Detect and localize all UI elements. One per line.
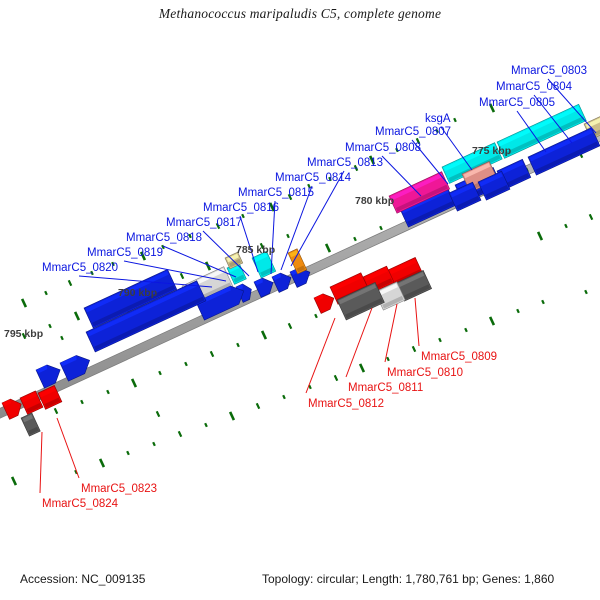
gene-label-mmarc5_0817[interactable]: MmarC5_0817	[166, 218, 242, 230]
rna-tick	[131, 378, 137, 387]
rna-tick	[48, 324, 52, 329]
rna-tick	[464, 328, 468, 333]
rna-tick	[537, 231, 543, 240]
rna-tick	[325, 243, 331, 252]
gene-label-mmarc5_0813[interactable]: MmarC5_0813	[307, 158, 383, 170]
rna-tick	[80, 400, 84, 405]
scale-tick-790: 790 kbp	[118, 288, 157, 299]
rna-tick	[261, 330, 267, 339]
leader-line	[40, 432, 42, 493]
rna-tick	[282, 395, 286, 400]
rna-tick	[564, 224, 568, 229]
gene-label-mmarc5_0804[interactable]: MmarC5_0804	[496, 82, 572, 94]
rna-tick	[106, 390, 110, 395]
rna-tick	[156, 411, 161, 417]
rna-tick	[60, 336, 64, 341]
gene-label-mmarc5_0812[interactable]: MmarC5_0812	[308, 399, 384, 411]
gene-label-mmarc5_0815[interactable]: MmarC5_0815	[238, 188, 314, 200]
rna-tick	[11, 476, 17, 485]
rna-tick	[353, 237, 357, 242]
rna-tick	[74, 311, 80, 320]
rna-tick	[438, 338, 442, 343]
rna-tick	[453, 118, 457, 123]
rna-tick	[99, 458, 105, 467]
rna-tick	[379, 226, 383, 231]
rna-tick	[314, 314, 318, 319]
gene-label-mmarc5_0818[interactable]: MmarC5_0818	[126, 233, 202, 245]
rna-tick	[21, 298, 27, 307]
rna-tick	[334, 375, 339, 381]
rna-tick	[180, 273, 185, 279]
gene-glyph[interactable]	[288, 249, 307, 274]
rna-tick	[516, 309, 520, 314]
gene-label-mmarc5_0823[interactable]: MmarC5_0823	[81, 484, 157, 496]
rna-tick	[589, 214, 594, 220]
rna-tick	[178, 431, 183, 437]
rna-tick	[359, 363, 365, 372]
gene-label-mmarc5_0824[interactable]: MmarC5_0824	[42, 499, 118, 511]
gene-label-mmarc5_0809[interactable]: MmarC5_0809	[421, 352, 497, 364]
scale-tick-775: 775 kbp	[472, 146, 511, 157]
rna-tick	[68, 280, 73, 286]
gene-label-mmarc5_0814[interactable]: MmarC5_0814	[275, 173, 351, 185]
gene-label-mmarc5_0810[interactable]: MmarC5_0810	[387, 368, 463, 380]
rna-tick	[412, 346, 417, 352]
leader-line	[306, 318, 335, 393]
rna-tick	[54, 408, 59, 414]
rna-tick	[210, 351, 215, 357]
gene-label-mmarc5_0816[interactable]: MmarC5_0816	[203, 203, 279, 215]
rna-tick-layer	[11, 103, 593, 485]
scale-tick-785: 785 kbp	[236, 245, 275, 256]
rna-tick	[286, 234, 290, 239]
rna-tick	[584, 290, 588, 295]
rna-tick	[158, 371, 162, 376]
rna-tick	[541, 300, 545, 305]
rna-tick	[236, 343, 240, 348]
rna-tick	[288, 323, 293, 329]
scale-tick-780: 780 kbp	[355, 196, 394, 207]
rna-tick	[126, 451, 130, 456]
gene-label-mmarc5_0820[interactable]: MmarC5_0820	[42, 263, 118, 275]
genome-map-viewer: Methanococcus maripaludis C5, complete g…	[0, 0, 600, 600]
leader-line	[291, 171, 344, 266]
leader-line	[415, 298, 419, 346]
accession-text: Accession: NC_009135	[20, 572, 145, 586]
leader-line	[385, 304, 397, 362]
leader-line	[57, 418, 79, 478]
gene-label-mmarc5_0808[interactable]: MmarC5_0808	[345, 143, 421, 155]
gene-label-mmarc5_0807[interactable]: MmarC5_0807	[375, 127, 451, 139]
gene-label-mmarc5_0805[interactable]: MmarC5_0805	[479, 98, 555, 110]
gene-label-mmarc5_0811[interactable]: MmarC5_0811	[348, 383, 423, 395]
topology-text: Topology: circular; Length: 1,780,761 bp…	[262, 572, 554, 586]
footer-bar: Accession: NC_009135 Topology: circular;…	[0, 572, 600, 588]
rna-tick	[489, 316, 495, 325]
gene-glyph[interactable]	[21, 413, 40, 436]
gene-label-mmarc5_0819[interactable]: MmarC5_0819	[87, 248, 163, 260]
gene-label-ksga[interactable]: ksgA	[425, 114, 451, 126]
rna-tick	[229, 411, 235, 420]
leader-line	[163, 246, 236, 277]
rna-tick	[386, 357, 390, 362]
gene-label-mmarc5_0803[interactable]: MmarC5_0803	[511, 66, 587, 78]
rna-tick	[44, 291, 48, 296]
rna-tick	[256, 403, 261, 409]
rna-tick	[152, 442, 156, 447]
scale-tick-795: 795 kbp	[4, 329, 43, 340]
rna-tick	[204, 423, 208, 428]
rna-tick	[184, 362, 188, 367]
leader-line	[124, 261, 226, 281]
